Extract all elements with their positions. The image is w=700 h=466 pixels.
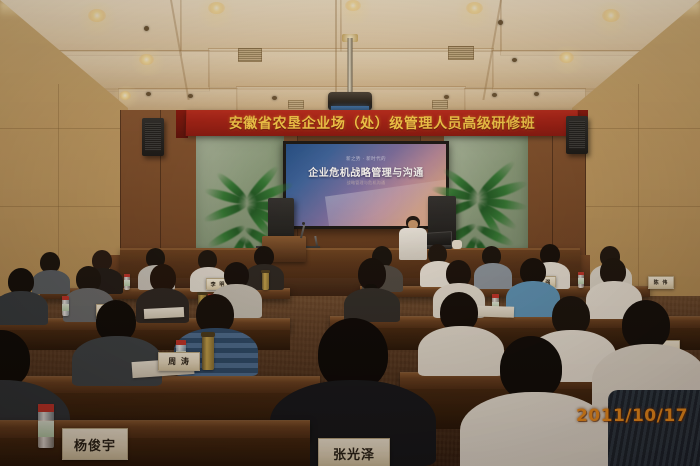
presenter — [398, 216, 430, 260]
attendee-body — [32, 270, 70, 294]
name-card-text: 张光泽 — [333, 444, 375, 463]
ceiling-coffer — [208, 48, 352, 88]
ceiling-vent — [288, 100, 304, 109]
tumbler-lid — [197, 292, 207, 295]
downlight — [139, 54, 154, 65]
tea-tumbler — [202, 332, 214, 370]
ceiling-speaker-icon — [444, 95, 449, 99]
bottle-cap — [38, 404, 54, 412]
projection-screen: 新之势 · 新时代的 企业危机战略管理与沟通 战略管理与危机沟通 — [286, 144, 446, 226]
bottle-label — [578, 278, 584, 284]
ceiling-speaker-icon — [534, 92, 539, 96]
ceiling-speaker-icon — [512, 58, 517, 62]
water-bottle — [62, 296, 69, 316]
name-card-text: 杨俊宇 — [74, 435, 116, 454]
tumbler-lid — [261, 270, 270, 273]
name-card-front-center: 张光泽 — [318, 438, 390, 466]
wall-speaker-left — [142, 118, 164, 156]
downlight — [88, 9, 106, 22]
attendee-body — [0, 291, 48, 325]
name-card-front-left: 杨俊宇 — [62, 428, 128, 460]
ceiling-vent — [238, 48, 262, 62]
downlight — [208, 2, 225, 14]
wall-seam — [0, 206, 128, 207]
downlight — [119, 91, 131, 100]
bottle-cap — [62, 296, 69, 300]
wall-seam — [0, 128, 128, 129]
bottle-label — [62, 304, 69, 311]
bottle-label — [124, 280, 130, 286]
handout-paper — [144, 307, 184, 319]
downlight — [345, 0, 361, 11]
camera-date-stamp: 2011/10/17 — [576, 406, 688, 426]
event-banner: 安徽省农垦企业场（处）级管理人员高级研修班 — [186, 110, 579, 136]
slide-title: 企业危机战略管理与沟通 — [286, 164, 446, 179]
attendee-head — [622, 300, 670, 350]
slide-subtitle: 新之势 · 新时代的 — [286, 156, 446, 162]
tea-tumbler — [262, 270, 269, 290]
attendee-body — [474, 263, 512, 289]
attendee-head — [500, 336, 562, 400]
presenter-shirt — [399, 228, 427, 260]
microphone-head-icon — [302, 222, 305, 225]
conference-photo: 安徽省农垦企业场（处）级管理人员高级研修班 新之势 · 新时代的 企业危机战略管… — [0, 0, 700, 466]
water-bottle — [578, 272, 584, 288]
ceiling-speaker-icon — [188, 94, 193, 98]
wall-seam — [572, 206, 700, 207]
ceiling-speaker-icon — [146, 92, 151, 96]
chair-back — [608, 390, 700, 466]
ceiling-vent — [432, 100, 448, 109]
bottle-cap — [492, 294, 499, 298]
ceiling-speaker-icon — [498, 20, 503, 25]
attendee-body — [418, 326, 504, 376]
attendee-body — [344, 288, 400, 322]
bottle-cap — [124, 274, 130, 277]
ceiling-speaker-icon — [144, 26, 149, 31]
ceiling-speaker-icon — [492, 93, 497, 97]
projector-pole — [348, 38, 353, 96]
name-card: 陈 伟 — [648, 276, 674, 289]
bottle-cap — [578, 272, 584, 275]
downlight — [602, 9, 620, 22]
water-bottle — [38, 404, 54, 448]
teacup — [452, 240, 462, 249]
water-bottle — [124, 274, 130, 290]
bottle-label — [38, 421, 54, 437]
name-card: 周 涛 — [158, 352, 200, 371]
wall-seam — [572, 128, 700, 129]
banner-text: 安徽省农垦企业场（处）级管理人员高级研修班 — [228, 113, 535, 133]
ceiling-speaker-icon — [272, 96, 277, 100]
ceiling-vent — [448, 46, 474, 60]
downlight — [559, 52, 574, 63]
wall-speaker-right — [566, 116, 588, 154]
downlight — [466, 2, 483, 14]
tumbler-lid — [201, 332, 215, 337]
slide-footnote: 战略管理与危机沟通 — [286, 180, 446, 186]
attendee-body — [460, 392, 610, 466]
bottle-cap — [176, 340, 186, 345]
